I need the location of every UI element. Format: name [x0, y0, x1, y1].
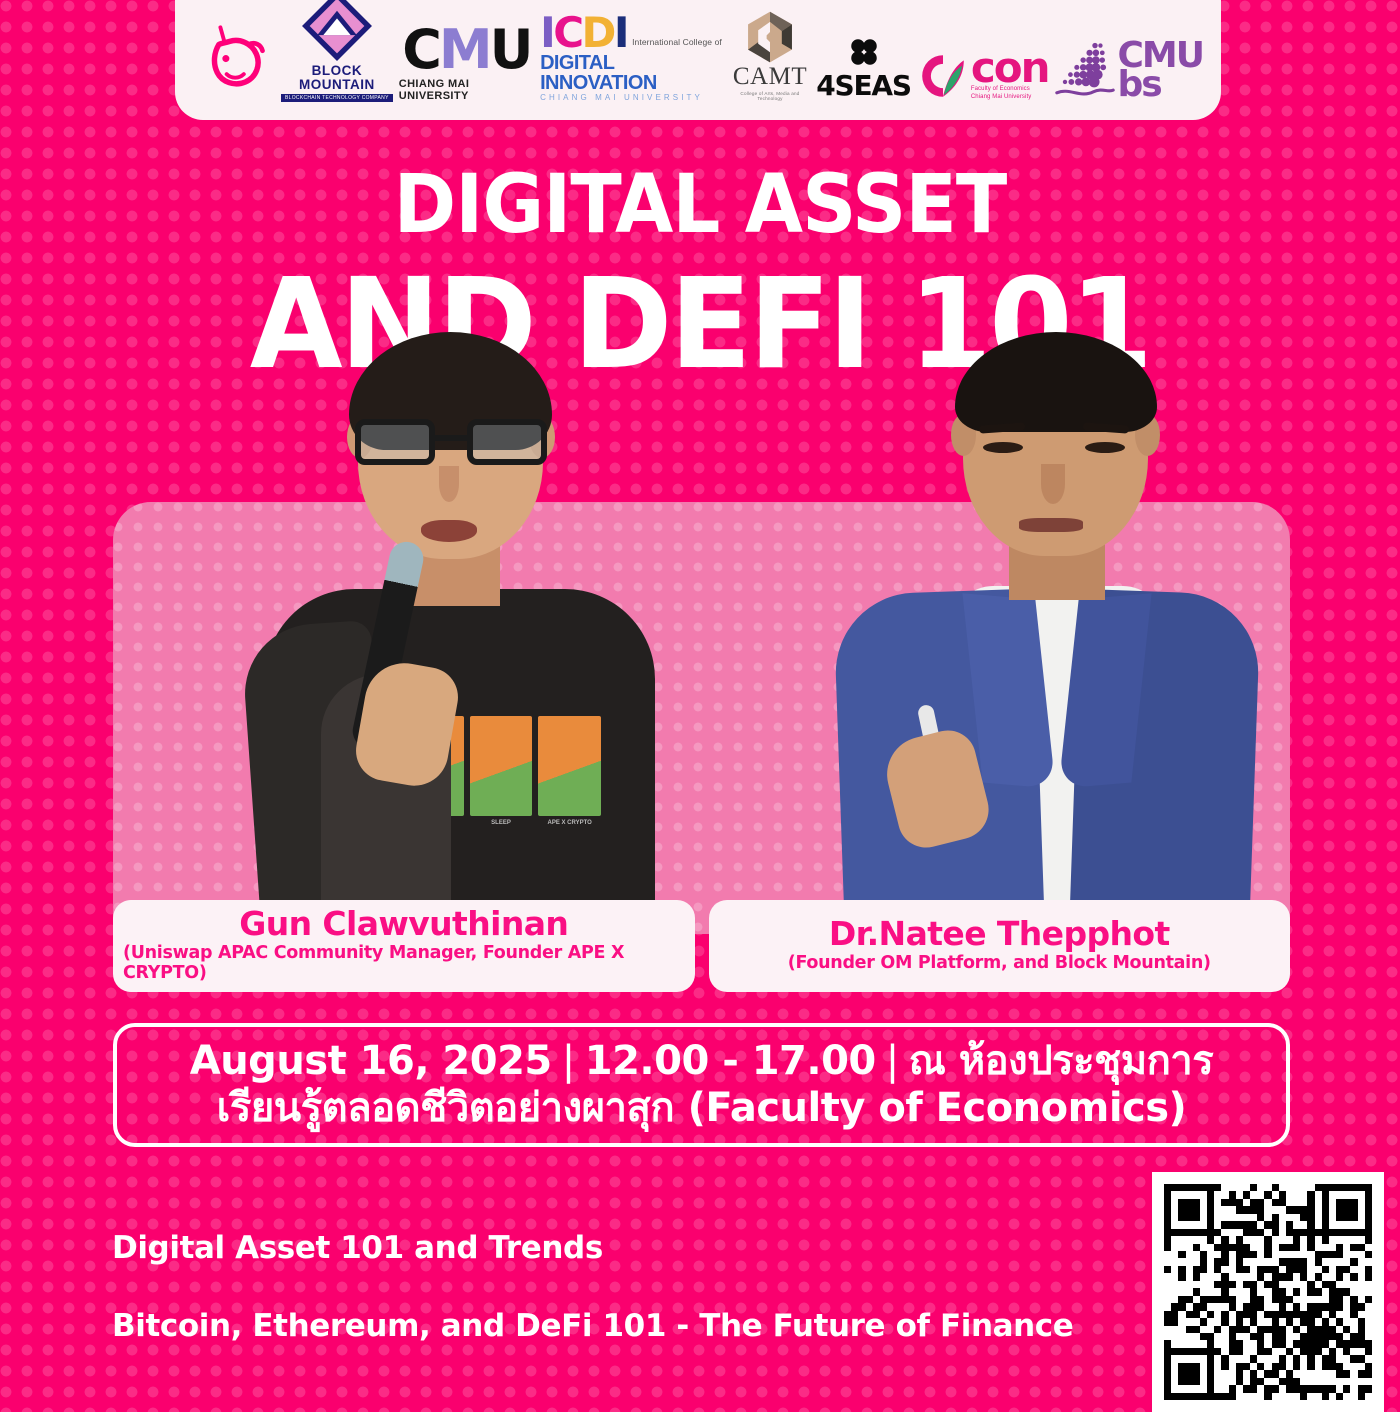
block-mountain-logo: BLOCK MOUNTAIN BLOCKCHAIN TECHNOLOGY COM… — [281, 0, 393, 102]
econ-title: con — [971, 50, 1049, 86]
camt-logo: CAMT College of Arts, Media and Technolo… — [730, 10, 811, 102]
tee-caption-2: SLEEP — [470, 820, 533, 826]
topic-item-1: Digital Asset 101 and Trends — [112, 1230, 1112, 1266]
block-mountain-title: BLOCK — [312, 63, 363, 78]
cmu-letter-u: U — [490, 18, 531, 81]
4seas-logo: 4SEAS — [816, 37, 911, 102]
speaker-photo-panel: EAT SLEEP APE X CRYPTO — [113, 502, 1290, 934]
event-date: August 16, 2025 — [190, 1038, 552, 1084]
speaker-card-1: Gun Clawvuthinan (Uniswap APAC Community… — [113, 900, 695, 992]
topic-list: Digital Asset 101 and Trends Bitcoin, Et… — [112, 1230, 1112, 1386]
speaker-2-name: Dr.Natee Thepphot — [829, 917, 1170, 952]
camt-subtitle: College of Arts, Media and Technology — [730, 91, 811, 102]
registration-qr-code[interactable] — [1152, 1172, 1384, 1412]
4seas-title: 4SEAS — [816, 69, 911, 102]
eyeglasses-icon — [355, 419, 547, 465]
icdi-letter-i2: I — [614, 8, 627, 57]
cmubs-sail-icon — [1055, 40, 1115, 102]
event-venue-line1: ณ ห้องประชุมการ — [909, 1038, 1214, 1084]
event-details-box: August 16, 2025|12.00 - 17.00|ณ ห้องประช… — [113, 1023, 1290, 1147]
icdi-logo: ICDI International College of DIGITAL IN… — [540, 14, 724, 102]
cmu-letter-m: M — [439, 18, 490, 81]
cmu-subtitle: CHIANG MAI UNIVERSITY — [399, 78, 534, 102]
icdi-letter-i1: I — [540, 8, 553, 57]
speaker-1-name: Gun Clawvuthinan — [239, 907, 568, 942]
four-petal-icon — [849, 37, 879, 67]
speaker-card-2: Dr.Natee Thepphot (Founder OM Platform, … — [709, 900, 1291, 992]
block-mountain-sub: BLOCKCHAIN TECHNOLOGY COMPANY — [281, 94, 393, 102]
event-venue-line2: เรียนรู้ตลอดชีวิตอย่างผาสุก (Faculty of … — [217, 1085, 1187, 1132]
icdi-university: CHIANG MAI UNIVERSITY — [540, 93, 703, 102]
icdi-letter-c: C — [553, 8, 581, 57]
speaker-1-role: (Uniswap APAC Community Manager, Founder… — [123, 943, 685, 983]
unicorn-icon — [197, 18, 275, 96]
speaker-2-role: (Founder OM Platform, and Block Mountain… — [788, 953, 1211, 973]
icdi-name: DIGITAL INNOVATION — [540, 53, 724, 93]
block-mountain-title2: MOUNTAIN — [299, 77, 375, 92]
mountain-diamond-icon — [299, 0, 375, 64]
speaker-photo-natee — [833, 414, 1253, 934]
cmu-letter-c: C — [402, 18, 439, 81]
separator-2: | — [876, 1038, 909, 1084]
separator-1: | — [552, 1038, 585, 1084]
camt-title: CAMT — [733, 64, 807, 89]
tee-caption-3: APE X CRYPTO — [538, 820, 601, 826]
uniswap-logo — [197, 18, 275, 102]
econ-sub2: Chiang Mai University — [971, 94, 1049, 102]
econ-leaf-icon — [917, 50, 969, 102]
econ-logo: con Faculty of Economics Chiang Mai Univ… — [917, 50, 1049, 102]
poster-title-line1: DIGITAL ASSET — [49, 158, 1351, 252]
camt-hexagon-icon — [744, 10, 796, 64]
topic-item-2: Bitcoin, Ethereum, and DeFi 101 - The Fu… — [112, 1308, 1112, 1344]
cmu-logo: CMU CHIANG MAI UNIVERSITY — [399, 26, 534, 102]
speaker-name-cards: Gun Clawvuthinan (Uniswap APAC Community… — [113, 900, 1290, 992]
sponsor-logo-bar: BLOCK MOUNTAIN BLOCKCHAIN TECHNOLOGY COM… — [175, 0, 1221, 120]
event-time: 12.00 - 17.00 — [585, 1038, 876, 1084]
event-poster: BLOCK MOUNTAIN BLOCKCHAIN TECHNOLOGY COM… — [0, 0, 1400, 1412]
icdi-letter-d: D — [582, 8, 614, 57]
qr-code-matrix — [1164, 1184, 1372, 1400]
icdi-tagline: International College of — [632, 37, 722, 47]
poster-title-line2: AND DEFI 101 — [28, 262, 1372, 387]
speaker-photo-gun: EAT SLEEP APE X CRYPTO — [243, 424, 673, 934]
cmubs-logo: CMU bs — [1055, 40, 1203, 102]
